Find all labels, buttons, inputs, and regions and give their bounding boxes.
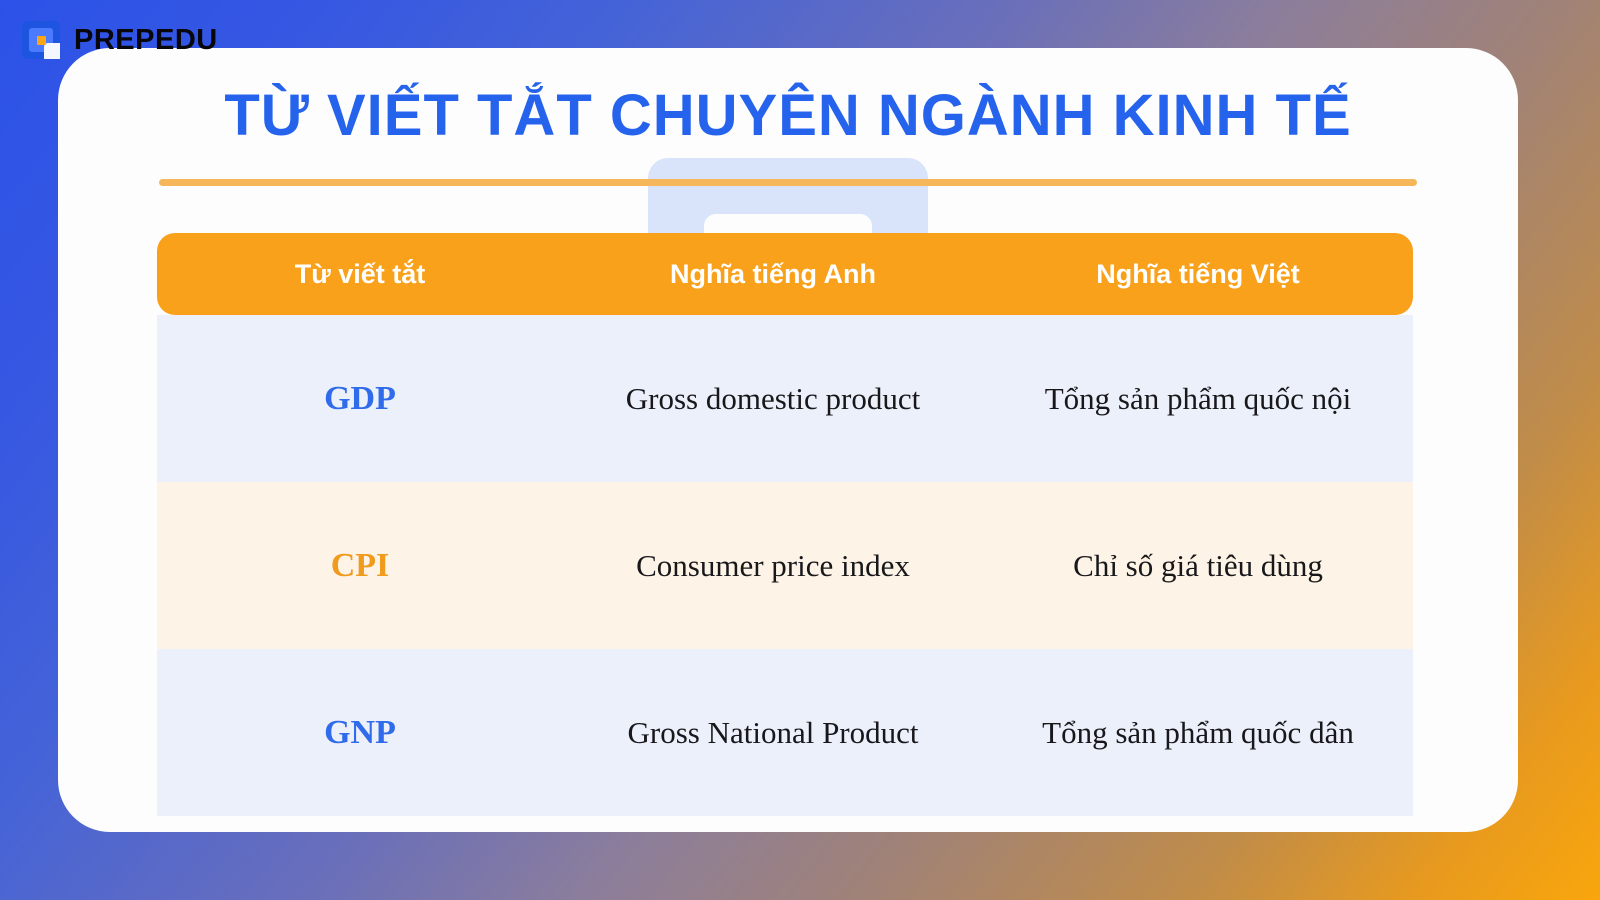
cell-abbr: CPI xyxy=(157,547,563,585)
table-row: GDP Gross domestic product Tổng sản phẩm… xyxy=(157,315,1413,482)
table-row: GNP Gross National Product Tổng sản phẩm… xyxy=(157,649,1413,816)
logo-accent-dot xyxy=(37,36,46,45)
cell-english: Gross domestic product xyxy=(563,381,983,417)
brand-logo[interactable]: PREPEDU xyxy=(22,21,218,59)
table-header-row: Từ viết tắt Nghĩa tiếng Anh Nghĩa tiếng … xyxy=(157,233,1413,315)
abbreviation-table: Từ viết tắt Nghĩa tiếng Anh Nghĩa tiếng … xyxy=(157,233,1413,816)
column-header-english: Nghĩa tiếng Anh xyxy=(563,259,983,290)
cell-vietnamese: Tổng sản phẩm quốc nội xyxy=(983,381,1413,417)
cell-vietnamese: Chỉ số giá tiêu dùng xyxy=(983,548,1413,584)
content-card: PREP TỪ VIẾT TẮT CHUYÊN NGÀNH KINH TẾ Từ… xyxy=(58,48,1518,832)
slide-root: { "brand": { "name": "PREPEDU", "logo_ic… xyxy=(0,0,1600,900)
cell-vietnamese: Tổng sản phẩm quốc dân xyxy=(983,715,1413,751)
cell-abbr: GDP xyxy=(157,380,563,418)
prep-logo-icon xyxy=(22,21,60,59)
column-header-abbr: Từ viết tắt xyxy=(157,259,563,290)
title-divider xyxy=(159,179,1417,186)
cell-english: Gross National Product xyxy=(563,715,983,751)
brand-name: PREPEDU xyxy=(74,26,218,55)
page-title: TỪ VIẾT TẮT CHUYÊN NGÀNH KINH TẾ xyxy=(58,82,1518,149)
cell-english: Consumer price index xyxy=(563,548,983,584)
cell-abbr: GNP xyxy=(157,714,563,752)
column-header-vietnamese: Nghĩa tiếng Việt xyxy=(983,259,1413,290)
logo-notch-shape xyxy=(44,43,60,59)
table-row: CPI Consumer price index Chỉ số giá tiêu… xyxy=(157,482,1413,649)
